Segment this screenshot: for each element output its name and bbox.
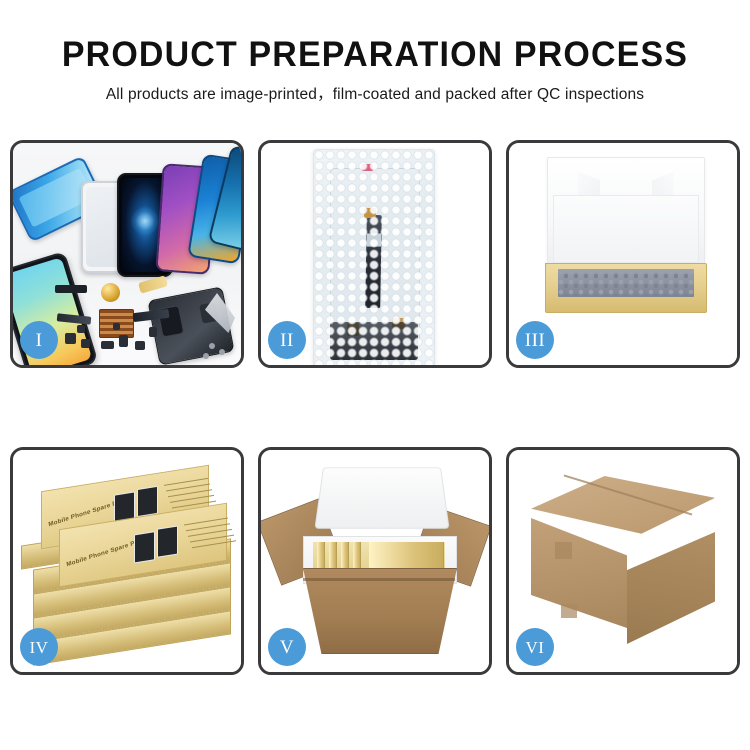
process-step-1[interactable]: I <box>10 140 244 368</box>
carton-tab-lower <box>561 604 577 618</box>
process-step-5[interactable]: V <box>258 447 492 675</box>
page-title: PRODUCT PREPARATION PROCESS <box>11 34 739 76</box>
process-step-4[interactable]: Mobile Phone Spare Parts Mobile Phone Sp… <box>10 447 244 675</box>
step-badge-2: II <box>268 321 306 359</box>
box-art-screen-3 <box>134 531 155 563</box>
part-speaker-round <box>101 283 120 302</box>
bubble-wrap-bag <box>313 149 435 365</box>
process-step-2[interactable]: II <box>258 140 492 368</box>
box-art-screen-2 <box>137 486 158 517</box>
process-step-6[interactable]: VI <box>506 447 740 675</box>
box-art-screen-4 <box>157 525 178 557</box>
bubble-texture <box>314 150 434 365</box>
step-badge-6: VI <box>516 628 554 666</box>
box-inner-white <box>553 195 699 263</box>
page-subtitle: All products are image-printed，film-coat… <box>0 84 750 106</box>
part-earpiece-mesh <box>55 285 87 293</box>
carton-edge-line <box>303 578 455 581</box>
process-step-grid: I II <box>10 140 740 675</box>
carton-tab-upper <box>555 542 572 559</box>
step-badge-1: I <box>20 321 58 359</box>
carton-front-face <box>531 518 627 628</box>
product-preparation-page: PRODUCT PREPARATION PROCESS All products… <box>0 0 750 750</box>
foam-lid-white <box>314 467 449 528</box>
grey-foam-padding <box>558 269 694 297</box>
carton-side-face <box>627 532 715 644</box>
step-badge-4: IV <box>20 628 58 666</box>
step-badge-5: V <box>268 628 306 666</box>
process-step-3[interactable]: III <box>506 140 740 368</box>
part-gold-connector <box>138 275 168 293</box>
step-badge-3: III <box>516 321 554 359</box>
box-tray-yellow <box>545 263 707 313</box>
